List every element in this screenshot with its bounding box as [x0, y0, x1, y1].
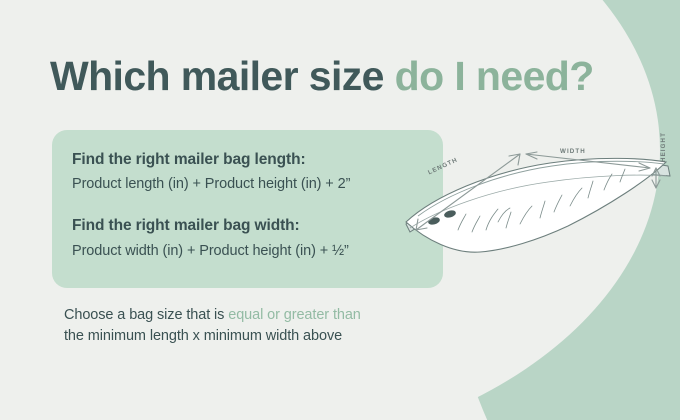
formula-spacer	[72, 194, 432, 216]
page-title: Which mailer size do I need?	[50, 56, 594, 97]
formula-card: Find the right mailer bag length: Produc…	[52, 130, 443, 288]
mailer-bag-illustration	[398, 132, 680, 268]
footnote-tail: the minimum length x minimum width above	[64, 328, 342, 344]
height-dimension-label: HEIGHT	[660, 132, 667, 162]
bag-width-formula: Product width (in) + Product height (in)…	[72, 242, 432, 261]
page-title-accent: do I need?	[395, 53, 594, 99]
mailer-bag-drawing	[406, 158, 670, 252]
footnote-text: Choose a bag size that is equal or great…	[64, 305, 464, 347]
width-dimension-label: WIDTH	[560, 148, 586, 155]
footnote-lead: Choose a bag size that is	[64, 307, 228, 323]
formula-card-content: Find the right mailer bag length: Produc…	[72, 150, 432, 260]
footnote-accent: equal or greater than	[228, 307, 361, 323]
page-title-primary: Which mailer size	[50, 53, 384, 99]
bag-top-face	[406, 158, 666, 252]
bag-length-heading: Find the right mailer bag length:	[72, 150, 432, 169]
bag-width-heading: Find the right mailer bag width:	[72, 216, 432, 235]
infographic-canvas: Which mailer size do I need? Find the ri…	[0, 0, 680, 420]
bag-length-formula: Product length (in) + Product height (in…	[72, 175, 432, 194]
